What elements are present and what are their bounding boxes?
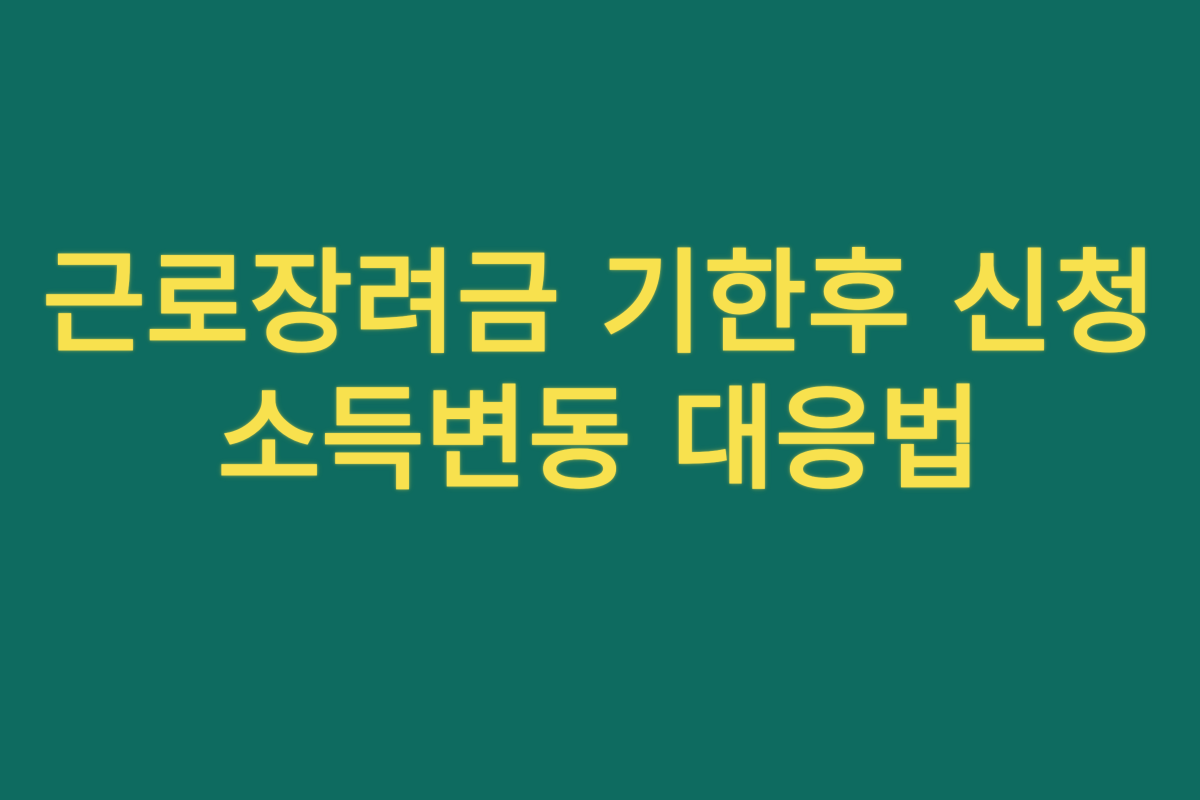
thumbnail-canvas: 근로장려금 기한후 신청 소득변동 대응법 bbox=[0, 0, 1200, 800]
headline-line-2: 소득변동 대응법 bbox=[0, 372, 1200, 508]
headline-block: 근로장려금 기한후 신청 소득변동 대응법 bbox=[0, 236, 1200, 508]
headline-line-1: 근로장려금 기한후 신청 bbox=[0, 236, 1200, 372]
